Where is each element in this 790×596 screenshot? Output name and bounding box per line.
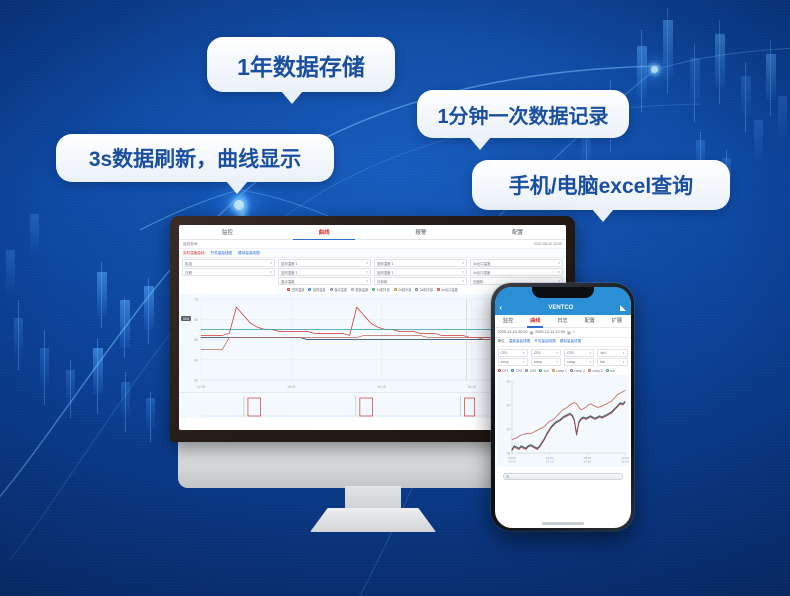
select-label: 冷却塔	[377, 279, 387, 284]
legend-dot-icon	[539, 369, 542, 372]
legend-label: comp 2	[574, 369, 584, 373]
phone-select-comp-3[interactable]: comp▾	[564, 358, 594, 366]
phone-tab-bar: 监控 曲线 日志 配置 扩展	[495, 315, 631, 328]
legend-item[interactable]: 1#制冷量	[372, 287, 390, 292]
monitor-subbar-timestamp: 2020-08-20 16:59	[534, 242, 562, 246]
feature-bubble-label: 1分钟一次数据记录	[437, 100, 608, 129]
filter-row: 日期▾ 送风湿度 1▾ 回风湿度 1▾ 4#出口湿度▾	[182, 268, 563, 276]
phone-app-header: ‹ VENTCO	[495, 301, 631, 315]
tab-label: 曲线	[319, 228, 330, 236]
select-value: CR3	[567, 351, 574, 355]
phone-select-cr2[interactable]: CR2▾	[531, 349, 561, 357]
legend-item[interactable]: 送风温度	[287, 287, 304, 292]
phone-tab-config[interactable]: 配置	[576, 315, 603, 327]
legend-dot-icon	[525, 369, 528, 372]
legend-item[interactable]: 4#出口温度	[437, 287, 458, 292]
select-label: 露点温度	[281, 279, 295, 284]
phone-filter-row: comp▾ comp▾ comp▾ fan▾	[498, 358, 628, 366]
select-label: 4#出口湿度	[473, 270, 490, 275]
mobile-phone: ‹ VENTCO 监控 曲线 日志 配置 扩展 2020-12-13 00:00…	[491, 283, 634, 531]
link-realtime-temp-curve[interactable]: 实时温度曲线	[183, 251, 205, 256]
monitor-subbar-title: 曲线查询	[183, 242, 197, 247]
feature-bubble-refresh-curve[interactable]: 3s数据刷新，曲线显示	[56, 134, 334, 182]
legend-dot-icon	[394, 288, 397, 291]
legend-item[interactable]: fan	[606, 369, 615, 373]
phone-select-comp-1[interactable]: comp▾	[498, 358, 528, 366]
legend-item[interactable]: comp 1	[552, 369, 567, 373]
legend-item[interactable]: CR2	[511, 369, 522, 373]
phone-range-slider[interactable]	[503, 473, 623, 480]
legend-label: CR3	[530, 369, 536, 373]
legend-label: CR1	[502, 369, 508, 373]
calendar-icon-2[interactable]: ▦	[567, 330, 571, 335]
tab-label: 监控	[503, 317, 513, 324]
phone-tab-curve[interactable]: 曲线	[522, 315, 549, 327]
legend-item[interactable]: CR1	[498, 369, 509, 373]
monitor-tab-curve[interactable]: 曲线	[276, 225, 373, 239]
phone-date-range: 2020-12-13 00:00 ▦ 2020-12-14 12:00 ▦ ⌕	[495, 328, 631, 338]
link-temp-curve[interactable]: 温度量曲线图	[509, 339, 531, 344]
select-dewpoint-temp[interactable]: 露点温度▾	[278, 277, 371, 285]
svg-text:06:15: 06:15	[468, 385, 476, 389]
end-date-field[interactable]: 2020-12-14 12:00	[535, 330, 565, 334]
legend-item[interactable]: 壁板温度	[351, 287, 368, 292]
legend-dot-icon	[287, 288, 290, 291]
tab-label: 曲线	[530, 317, 540, 324]
select-label: 送风湿度 1	[281, 270, 297, 275]
select-label: 送风温度 1	[281, 261, 297, 266]
legend-item[interactable]: comp 2	[570, 369, 585, 373]
svg-text:70: 70	[194, 298, 198, 302]
start-date-field[interactable]: 2020-12-13 00:00	[498, 330, 528, 334]
select-supply-humidity-1[interactable]: 送风湿度 1▾	[278, 268, 371, 276]
tab-label: 配置	[585, 317, 595, 324]
svg-text:12:15: 12:15	[197, 385, 205, 389]
select-label: 回风湿度 1	[377, 270, 393, 275]
select-unit[interactable]: 机组▾	[182, 259, 275, 267]
bubble-tail	[592, 209, 614, 222]
feature-bubble-excel-query[interactable]: 手机/电脑excel查询	[472, 160, 730, 210]
filter-row: 机组▾ 送风温度 1▾ 回风温度 1▾ 4#出口温度▾	[182, 259, 563, 267]
legend-dot-icon	[606, 369, 609, 372]
svg-text:30: 30	[506, 403, 510, 407]
legend-dot-icon	[437, 288, 440, 291]
phone-filter-row: CR1▾ CR2▾ CR3▾ 4x4▾	[498, 349, 628, 357]
monitor-tab-alarm[interactable]: 报警	[373, 225, 470, 239]
legend-label: 1#制冷量	[377, 287, 390, 292]
phone-notch	[532, 287, 594, 298]
feature-bubble-record-interval[interactable]: 1分钟一次数据记录	[417, 90, 629, 138]
select-outlet-temp-4[interactable]: 4#出口温度▾	[470, 259, 563, 267]
link-switch-curve[interactable]: 开关量曲线图	[534, 339, 556, 344]
legend-label: comp 1	[556, 369, 566, 373]
phone-filter-panel: CR1▾ CR2▾ CR3▾ 4x4▾ comp▾ comp▾ comp▾ fa…	[495, 347, 631, 366]
svg-text:18:15: 18:15	[287, 385, 295, 389]
phone-select-fan[interactable]: fan▾	[597, 358, 627, 366]
phone-select-cr3[interactable]: CR3▾	[564, 349, 594, 357]
svg-text:12-13: 12-13	[508, 459, 516, 463]
tab-label: 报警	[415, 228, 426, 236]
phone-link-row: 单位 温度量曲线图 开关量曲线图 模拟量曲线图	[495, 338, 631, 347]
tab-label: 日志	[557, 317, 567, 324]
select-label: 机组	[185, 261, 192, 266]
select-value: comp	[534, 360, 542, 364]
select-return-temp-1[interactable]: 回风温度 1▾	[374, 259, 467, 267]
phone-screen: ‹ VENTCO 监控 曲线 日志 配置 扩展 2020-12-13 00:00…	[495, 287, 631, 528]
link-analog-curve[interactable]: 模拟量曲线图	[238, 251, 260, 256]
feature-bubble-label: 3s数据刷新，曲线显示	[89, 143, 301, 173]
select-value: 4x4	[600, 351, 605, 355]
svg-text:40: 40	[194, 358, 198, 362]
tab-label: 监控	[222, 228, 233, 236]
select-label: 日期	[185, 270, 192, 275]
legend-dot-icon	[498, 369, 501, 372]
link-switch-curve[interactable]: 开关量曲线图	[211, 251, 233, 256]
phone-tab-monitoring[interactable]: 监控	[495, 315, 522, 327]
select-supply-temp-1[interactable]: 送风温度 1▾	[278, 259, 371, 267]
phone-chart: 2829303100:0012-1312:0012-1300:0012-1412…	[497, 375, 629, 467]
feature-bubble-data-storage[interactable]: 1年数据存储	[207, 37, 395, 92]
legend-dot-icon	[511, 369, 514, 372]
legend-item[interactable]: 露点温度	[330, 287, 347, 292]
signal-icon	[620, 305, 626, 311]
phone-tab-extend[interactable]: 扩展	[603, 315, 630, 327]
phone-select-comp-2[interactable]: comp▾	[531, 358, 561, 366]
svg-text:31: 31	[506, 379, 510, 383]
legend-item[interactable]: CR3	[525, 369, 536, 373]
select-value: comp	[567, 360, 575, 364]
phone-home-indicator	[542, 522, 584, 525]
svg-text:60: 60	[194, 318, 198, 322]
legend-dot-icon	[570, 369, 573, 372]
svg-text:12-14: 12-14	[621, 459, 629, 463]
phone-chart-svg: 2829303100:0012-1312:0012-1300:0012-1412…	[497, 375, 629, 467]
phone-body: ‹ VENTCO 监控 曲线 日志 配置 扩展 2020-12-13 00:00…	[491, 283, 634, 531]
select-date[interactable]: 日期▾	[182, 268, 275, 276]
legend-label: 2#制冷量	[398, 287, 411, 292]
legend-item[interactable]: 回风温度	[308, 287, 325, 292]
link-analog-curve[interactable]: 模拟量曲线图	[560, 339, 582, 344]
monitor-tab-monitoring[interactable]: 监控	[179, 225, 276, 239]
select-label: 回风温度 1	[377, 261, 393, 266]
phone-select-cr1[interactable]: CR1▾	[498, 349, 528, 357]
tab-label: 配置	[512, 228, 523, 236]
bubble-tail	[469, 137, 491, 150]
legend-label: comp 3	[592, 369, 602, 373]
poster-canvas: 1年数据存储 1分钟一次数据记录 3s数据刷新，曲线显示 手机/电脑excel查…	[0, 0, 790, 596]
select-label: 压缩机	[473, 279, 483, 284]
monitor-y-badge: 55.8	[181, 316, 191, 321]
svg-text:12-14: 12-14	[583, 459, 591, 463]
phone-chart-legend: CR1CR2CR34x4comp 1comp 2comp 3fan	[495, 367, 631, 375]
legend-label: 回风温度	[313, 287, 326, 292]
legend-dot-icon	[372, 288, 375, 291]
select-cooling-tower[interactable]: 冷却塔▾	[374, 277, 467, 285]
legend-dot-icon	[351, 288, 354, 291]
back-icon[interactable]: ‹	[500, 303, 503, 312]
select-label: 4#出口温度	[473, 261, 490, 266]
legend-item[interactable]: 3#制冷量	[415, 287, 433, 292]
legend-dot-icon	[588, 369, 591, 372]
link-unit[interactable]: 单位	[498, 339, 505, 344]
legend-dot-icon	[415, 288, 418, 291]
svg-text:30: 30	[194, 379, 198, 383]
legend-label: 壁板温度	[355, 287, 368, 292]
select-outlet-humidity-4[interactable]: 4#出口湿度▾	[470, 268, 563, 276]
select-return-humidity-1[interactable]: 回风湿度 1▾	[374, 268, 467, 276]
legend-dot-icon	[308, 288, 311, 291]
legend-dot-icon	[552, 369, 555, 372]
legend-label: 露点温度	[334, 287, 347, 292]
feature-bubble-label: 1年数据存储	[237, 48, 365, 82]
svg-text:28: 28	[506, 451, 510, 455]
legend-item[interactable]: 2#制冷量	[394, 287, 412, 292]
select-value: fan	[600, 360, 605, 364]
monitor-foot	[310, 508, 436, 532]
phone-tab-log[interactable]: 日志	[549, 315, 576, 327]
select-value: CR2	[534, 351, 541, 355]
bubble-tail	[226, 181, 248, 194]
search-icon[interactable]: ⌕	[573, 330, 575, 334]
select-value: comp	[501, 360, 509, 364]
tab-label: 扩展	[612, 317, 622, 324]
bubble-tail	[281, 91, 303, 104]
legend-label: CR2	[516, 369, 522, 373]
feature-bubble-label: 手机/电脑excel查询	[509, 170, 693, 200]
monitor-tab-config[interactable]: 配置	[469, 225, 566, 239]
legend-label: fan	[610, 369, 614, 373]
monitor-link-row: 实时温度曲线 开关量曲线图 模拟量曲线图	[179, 249, 566, 258]
phone-select-4x4[interactable]: 4x4▾	[597, 349, 627, 357]
legend-item[interactable]: comp 3	[588, 369, 603, 373]
svg-text:00:15: 00:15	[377, 385, 385, 389]
calendar-icon[interactable]: ▦	[529, 330, 533, 335]
monitor-tab-bar: 监控 曲线 报警 配置	[179, 225, 566, 240]
legend-label: 送风温度	[292, 287, 305, 292]
select-value: CR1	[501, 351, 508, 355]
monitor-subbar: 曲线查询 2020-08-20 16:59	[179, 240, 566, 249]
legend-item[interactable]: 4x4	[539, 369, 549, 373]
legend-label: 3#制冷量	[420, 287, 433, 292]
svg-text:12-13: 12-13	[545, 459, 553, 463]
legend-label: 4#出口温度	[442, 287, 458, 292]
svg-text:29: 29	[506, 427, 510, 431]
svg-text:50: 50	[194, 338, 198, 342]
legend-dot-icon	[330, 288, 333, 291]
app-brand: VENTCO	[548, 305, 573, 311]
legend-label: 4x4	[544, 369, 549, 373]
